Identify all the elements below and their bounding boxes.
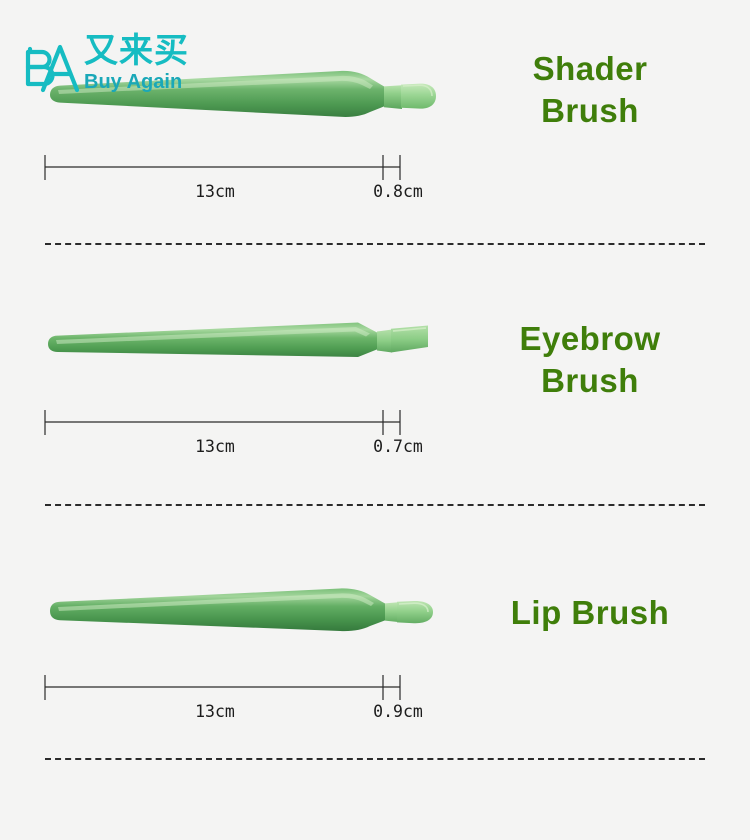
eyebrow-brush-width-label: 0.7cm <box>373 437 423 456</box>
logo-monogram-icon <box>18 34 84 100</box>
shader-brush-title-line1: Shader <box>460 48 720 90</box>
lip-brush-length-label: 13cm <box>195 702 235 721</box>
shader-brush-title-line2: Brush <box>460 90 720 132</box>
section-divider-1 <box>45 243 705 245</box>
logo-wordmark: 又来买 Buy Again <box>84 32 204 94</box>
lip-brush-title-line1: Lip Brush <box>460 592 720 634</box>
brand-logo: 又来买 Buy Again <box>18 32 198 104</box>
logo-english-text: Buy Again <box>84 70 204 94</box>
shader-brush-length-label: 13cm <box>195 182 235 201</box>
eyebrow-brush-title: Eyebrow Brush <box>460 318 720 402</box>
eyebrow-brush-image <box>40 300 440 415</box>
shader-brush-width-label: 0.8cm <box>373 182 423 201</box>
shader-brush-title: Shader Brush <box>460 48 720 132</box>
shader-brush-ferrule <box>384 85 402 109</box>
section-divider-3 <box>45 758 705 760</box>
shader-brush-ruler: 13cm 0.8cm <box>40 150 450 210</box>
shader-brush-tip <box>401 84 436 109</box>
eyebrow-brush-ruler: 13cm 0.7cm <box>40 405 450 465</box>
product-spec-sheet: 又来买 Buy Again <box>0 0 750 840</box>
eyebrow-brush-title-line2: Brush <box>460 360 720 402</box>
logo-chinese-text: 又来买 <box>84 32 204 70</box>
lip-brush-ferrule <box>385 602 398 622</box>
eyebrow-brush-ferrule <box>377 330 392 353</box>
eyebrow-brush-title-line1: Eyebrow <box>460 318 720 360</box>
lip-brush-title: Lip Brush <box>460 592 720 634</box>
lip-brush-width-label: 0.9cm <box>373 702 423 721</box>
eyebrow-brush-length-label: 13cm <box>195 437 235 456</box>
section-divider-2 <box>45 504 705 506</box>
lip-brush-image <box>40 570 440 685</box>
lip-brush-ruler: 13cm 0.9cm <box>40 670 450 730</box>
